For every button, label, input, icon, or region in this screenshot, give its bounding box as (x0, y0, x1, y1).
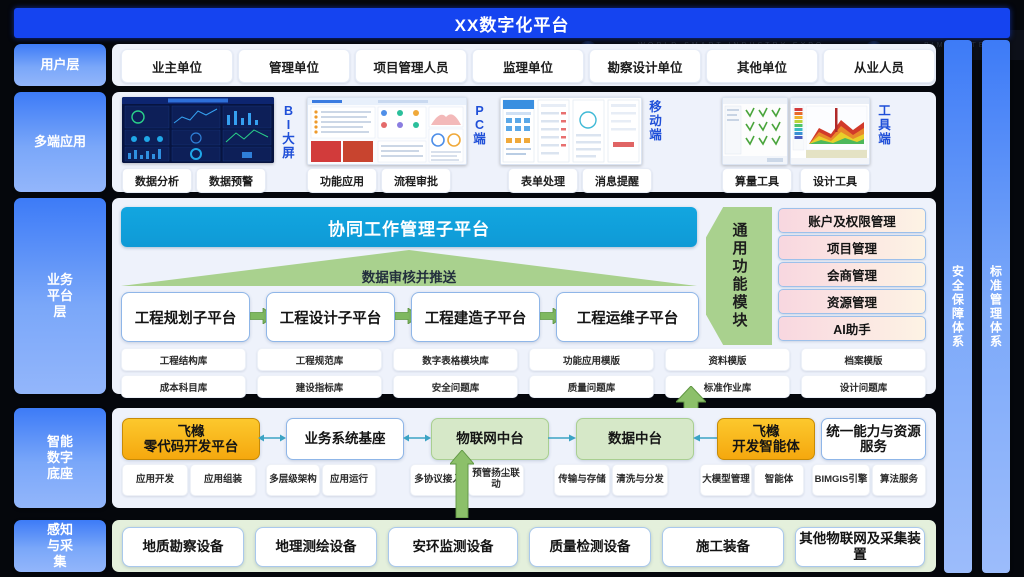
bidirectional-arrow-icon (258, 431, 286, 445)
connector-0 (258, 431, 286, 445)
pc-portal-art (308, 98, 466, 164)
sensing-item-1[interactable]: 地理测绘设备 (255, 527, 377, 567)
app-chip-tool-1[interactable]: 设计工具 (800, 168, 870, 193)
mobile-screens-art (501, 98, 641, 164)
data-review-push-label: 数据审核并推送 (121, 266, 697, 286)
subplatform-3[interactable]: 工程运维子平台 (556, 292, 699, 342)
common-function-3[interactable]: 资源管理 (778, 289, 926, 314)
arrow-left-icon (693, 431, 717, 445)
connector-2 (548, 431, 576, 445)
foundation-block-1[interactable]: 业务系统基座 (286, 418, 404, 460)
library-r1-c1[interactable]: 建设指标库 (257, 375, 382, 398)
thumbnail-mobile-screens (500, 97, 642, 165)
foundation-block-4[interactable]: 飞橼开发智能体 (717, 418, 815, 460)
layer-label-business: 业务平台层 (14, 198, 106, 394)
design-tool-art (791, 98, 869, 164)
side-system-security[interactable]: 安全保障体系 (944, 40, 972, 573)
thumbnail-bi-dashboard (122, 97, 274, 163)
library-r1-c3[interactable]: 质量问题库 (529, 375, 654, 398)
common-function-module: 通用功能模块 (706, 207, 772, 345)
sensing-item-4[interactable]: 施工装备 (662, 527, 784, 567)
library-r0-c1[interactable]: 工程规范库 (257, 348, 382, 371)
thumbnail-pc-portal (307, 97, 467, 165)
sensing-item-3[interactable]: 质量检测设备 (529, 527, 651, 567)
layer-label-multiterminal: 多端应用 (14, 92, 106, 192)
foundation-sub-2-1[interactable]: 预管扬尘联动 (468, 464, 524, 496)
diagram-canvas: WORLD SMART INDUSTRY EXPO BIMCC ITECH XX… (0, 0, 1024, 577)
foundation-block-3[interactable]: 数据中台 (576, 418, 694, 460)
data-review-push-banner: 数据审核并推送 (121, 250, 697, 288)
connector-3 (693, 431, 717, 445)
foundation-sub-3-1[interactable]: 清洗与分发 (612, 464, 668, 496)
terminal-label-pc: PC端 (467, 104, 493, 146)
common-function-1[interactable]: 项目管理 (778, 235, 926, 260)
app-chip-bi-1[interactable]: 数据预警 (196, 168, 266, 193)
foundation-block-5[interactable]: 统一能力与资源服务 (821, 418, 926, 460)
subplatform-0[interactable]: 工程规划子平台 (121, 292, 250, 342)
quantity-tool-art (723, 98, 787, 164)
user-chip-5[interactable]: 其他单位 (706, 49, 818, 83)
sensing-item-2[interactable]: 安环监测设备 (388, 527, 518, 567)
terminal-label-mobile: 移动端 (643, 100, 669, 142)
thumbnail-quantity-tool (722, 97, 788, 165)
app-chip-bi-0[interactable]: 数据分析 (122, 168, 192, 193)
foundation-sub-4-1[interactable]: 智能体 (754, 464, 804, 496)
foundation-sub-3-0[interactable]: 传输与存储 (554, 464, 610, 496)
app-chip-tool-0[interactable]: 算量工具 (722, 168, 792, 193)
page-title: XX数字化平台 (14, 8, 1010, 38)
common-function-4[interactable]: AI助手 (778, 316, 926, 341)
bidirectional-arrow-icon (403, 431, 431, 445)
arrow-up-icon (450, 450, 474, 518)
common-function-0[interactable]: 账户及权限管理 (778, 208, 926, 233)
app-chip-mobile-1[interactable]: 消息提醒 (582, 168, 652, 193)
app-chip-pc-0[interactable]: 功能应用 (307, 168, 377, 193)
foundation-sub-4-0[interactable]: 大模型管理 (700, 464, 752, 496)
connector-1 (403, 431, 431, 445)
bi-dashboard-art (122, 97, 274, 163)
subplatform-1[interactable]: 工程设计子平台 (266, 292, 395, 342)
library-r1-c2[interactable]: 安全问题库 (393, 375, 518, 398)
library-r0-c5[interactable]: 档案模版 (801, 348, 926, 371)
app-chip-pc-1[interactable]: 流程审批 (381, 168, 451, 193)
sensing-item-5[interactable]: 其他物联网及采集装置 (795, 527, 925, 567)
common-function-2[interactable]: 会商管理 (778, 262, 926, 287)
user-chip-3[interactable]: 监理单位 (472, 49, 584, 83)
user-chip-0[interactable]: 业主单位 (121, 49, 233, 83)
foundation-sub-5-0[interactable]: BIMGIS引擎 (812, 464, 870, 496)
sensing-upflow-arrow (450, 450, 474, 518)
user-chip-4[interactable]: 勘察设计单位 (589, 49, 701, 83)
user-chip-1[interactable]: 管理单位 (238, 49, 350, 83)
foundation-block-2[interactable]: 物联网中台 (431, 418, 549, 460)
foundation-sub-5-1[interactable]: 算法服务 (872, 464, 926, 496)
foundation-sub-1-1[interactable]: 应用运行 (322, 464, 376, 496)
thumbnail-design-tool (790, 97, 870, 165)
foundation-sub-0-1[interactable]: 应用组装 (190, 464, 256, 496)
library-r0-c4[interactable]: 资料模版 (665, 348, 790, 371)
foundation-sub-0-0[interactable]: 应用开发 (122, 464, 188, 496)
arrow-right-icon (548, 431, 576, 445)
layer-label-foundation: 智能数字底座 (14, 408, 106, 508)
library-r1-c5[interactable]: 设计问题库 (801, 375, 926, 398)
sensing-item-0[interactable]: 地质勘察设备 (122, 527, 244, 567)
library-r0-c3[interactable]: 功能应用模版 (529, 348, 654, 371)
library-r0-c0[interactable]: 工程结构库 (121, 348, 246, 371)
layer-label-user: 用户层 (14, 44, 106, 86)
user-chip-6[interactable]: 从业人员 (823, 49, 935, 83)
terminal-label-tool: 工具端 (872, 104, 898, 146)
library-r0-c2[interactable]: 数字表格模块库 (393, 348, 518, 371)
side-system-standards[interactable]: 标准管理体系 (982, 40, 1010, 573)
collaborative-work-platform-bar[interactable]: 协同工作管理子平台 (121, 207, 697, 247)
app-chip-mobile-0[interactable]: 表单处理 (508, 168, 578, 193)
foundation-block-0[interactable]: 飞橼零代码开发平台 (122, 418, 260, 460)
subplatform-2[interactable]: 工程建造子平台 (411, 292, 540, 342)
library-r1-c0[interactable]: 成本科目库 (121, 375, 246, 398)
layer-label-sensing: 感知与采集 (14, 520, 106, 572)
foundation-sub-1-0[interactable]: 多层级架构 (266, 464, 320, 496)
user-chip-2[interactable]: 项目管理人员 (355, 49, 467, 83)
terminal-label-bi: BI大屏 (276, 104, 302, 160)
